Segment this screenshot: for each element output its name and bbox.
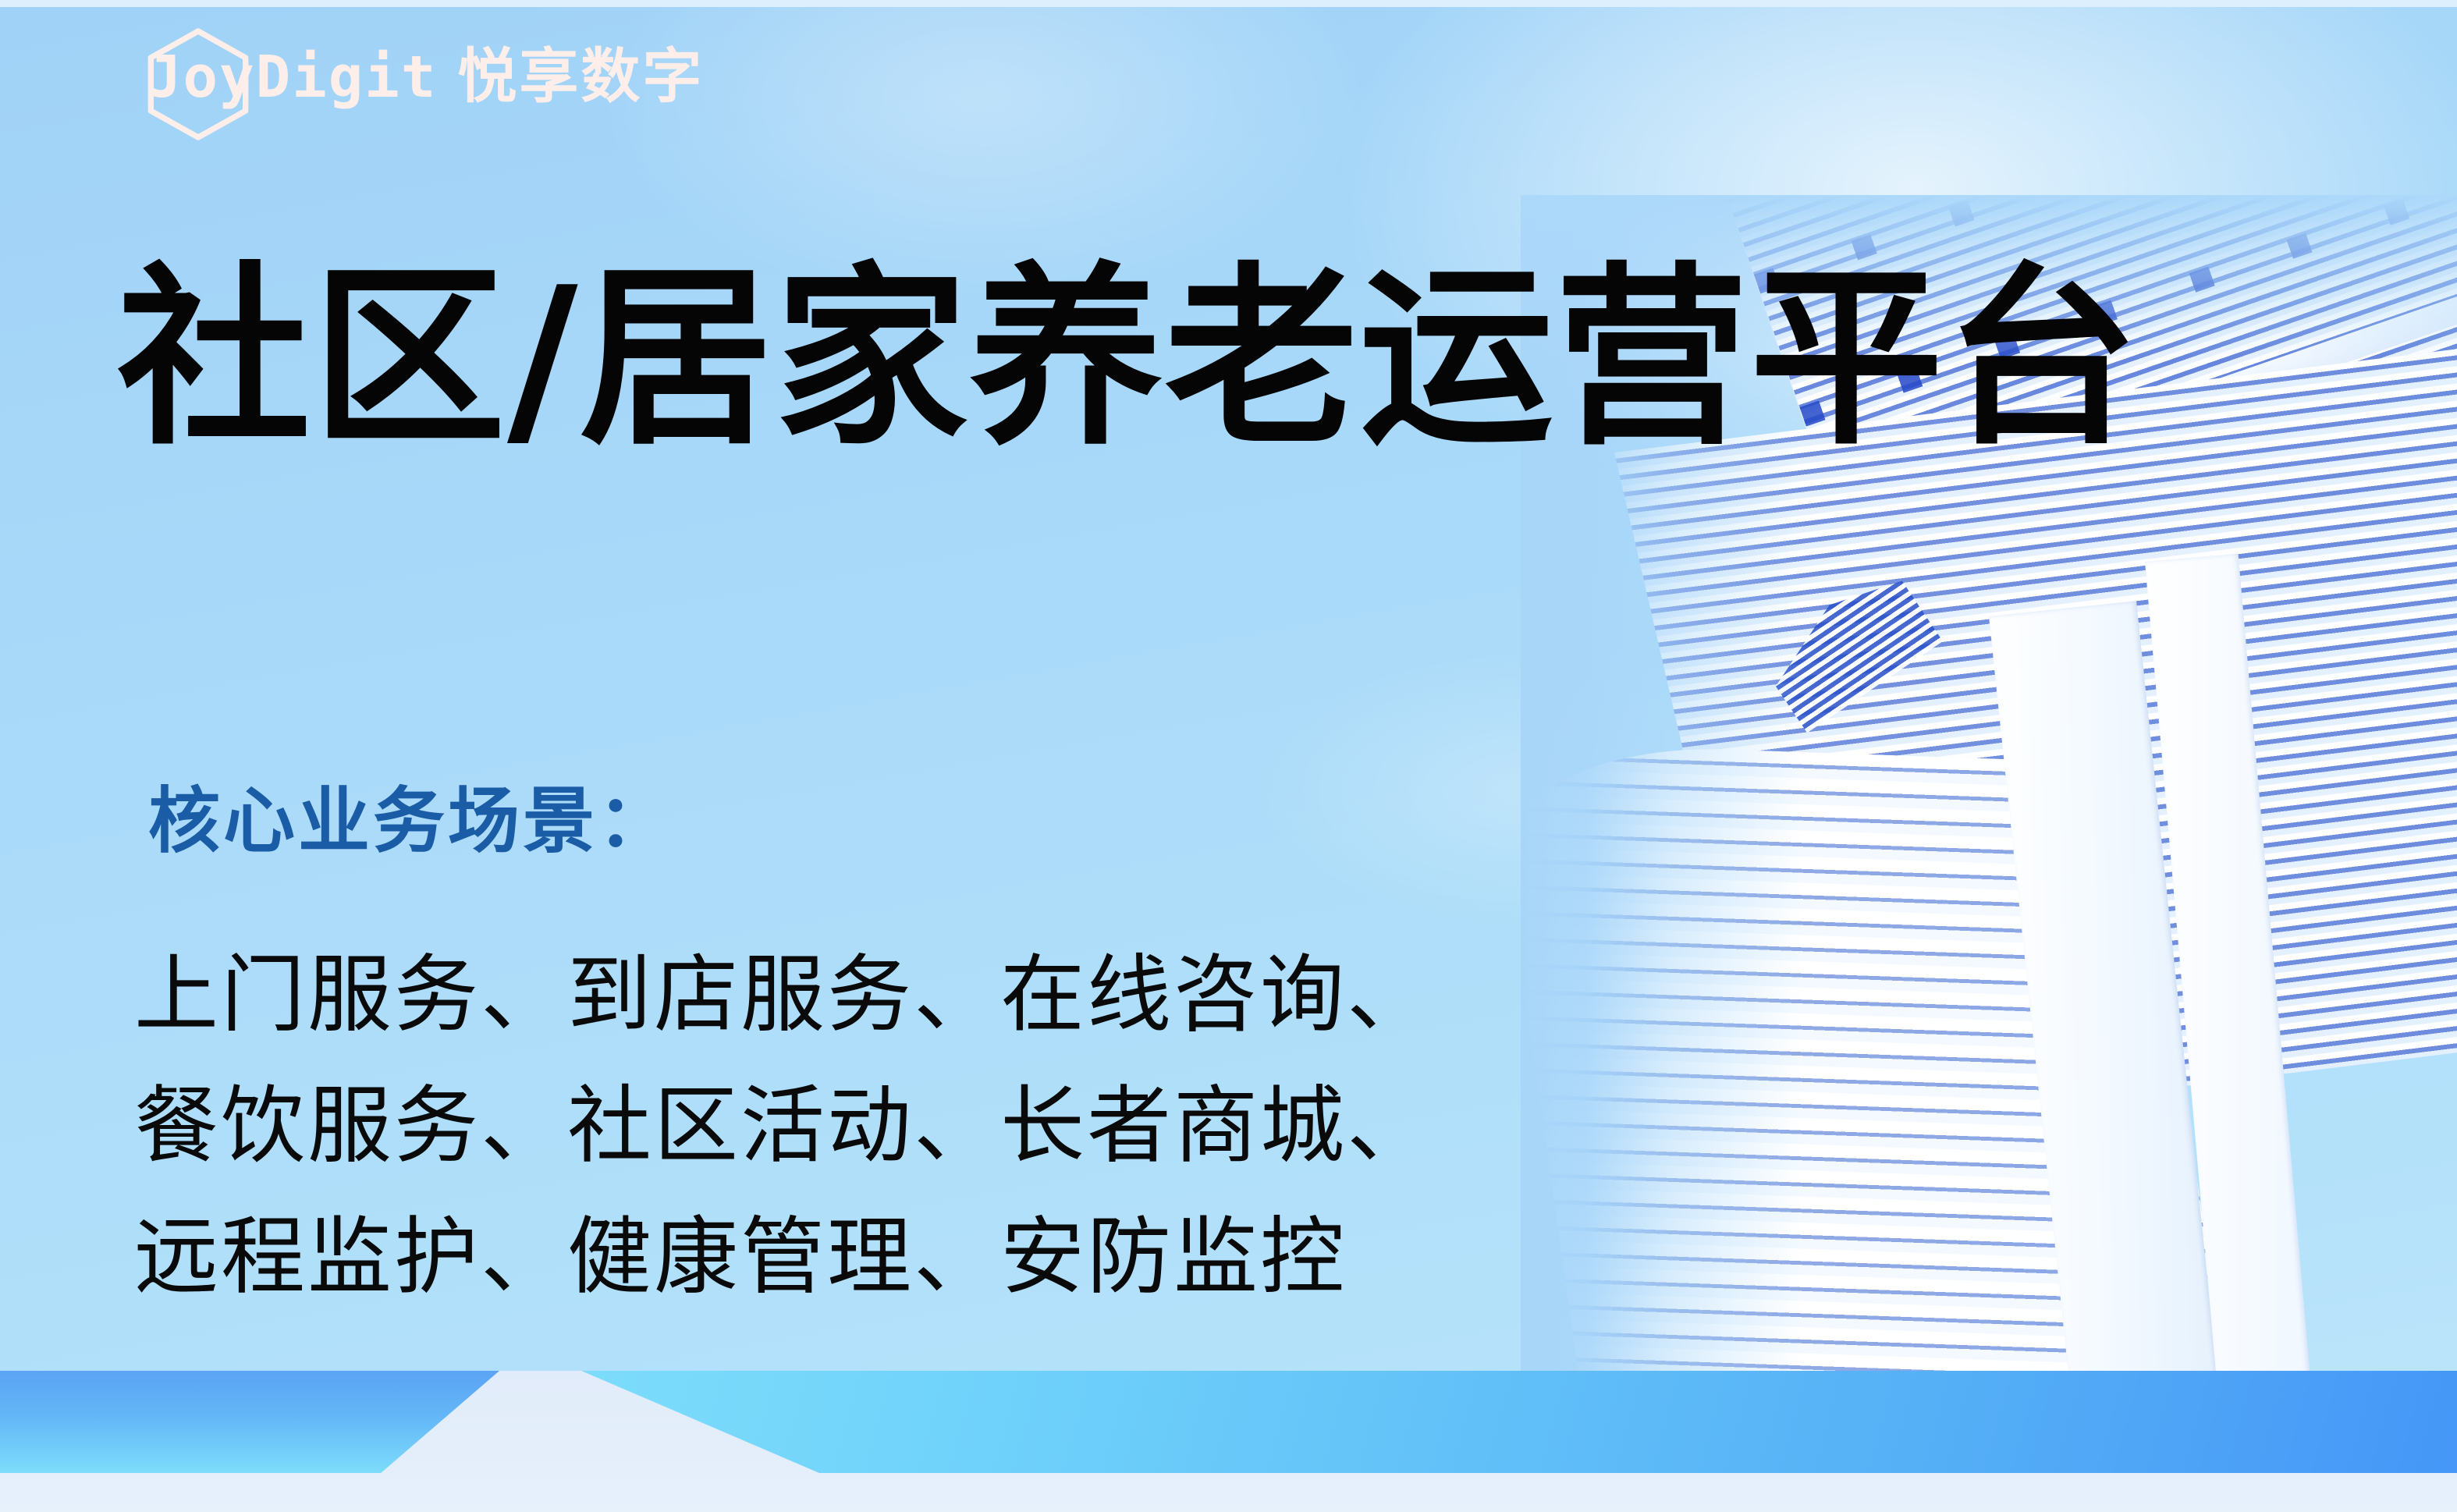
top-edge-strip [0,0,2457,7]
scenario-list: 上门服务、到店服务、在线咨询、 餐饮服务、社区活动、长者商城、 远程监护、健康管… [134,930,1433,1323]
logo-cn-text: 悦享数字 [457,28,704,114]
brand-logo[interactable]: JoyDigit 悦享数字 [139,28,704,114]
scenario-line: 餐饮服务、社区活动、长者商城、 [134,1061,1433,1192]
section-subheading: 核心业务场景： [148,763,673,867]
logo-wordmark: JoyDigit 悦享数字 [139,28,704,114]
bottom-banner [0,1371,2457,1512]
scenario-line: 上门服务、到店服务、在线咨询、 [134,930,1433,1061]
banner-band-right [581,1371,2457,1473]
scenario-line: 远程监护、健康管理、安防监控 [134,1192,1433,1323]
logo-en-text: JoyDigit [147,44,437,111]
page-title: 社区/居家养老运营平台 [117,257,2140,460]
slide-root: JoyDigit 悦享数字 社区/居家养老运营平台 核心业务场景： 上门服务、到… [0,0,2457,1512]
banner-band-left [0,1371,499,1473]
